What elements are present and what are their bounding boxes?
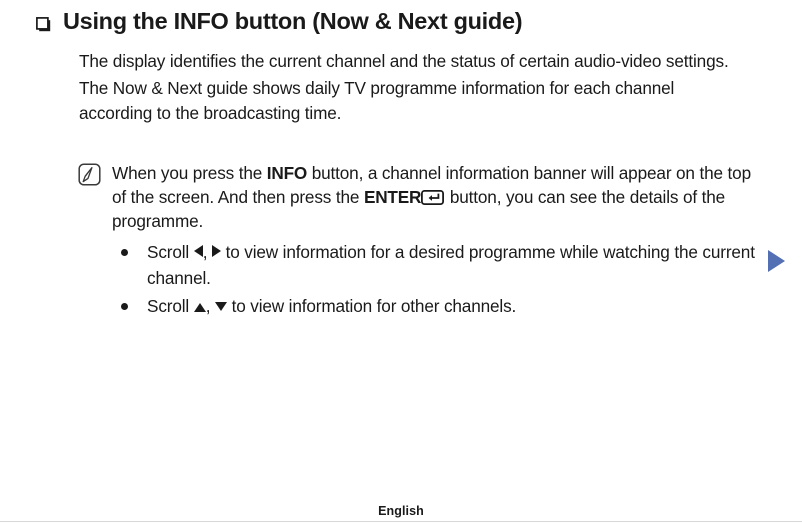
- bullet-2-text-before: Scroll: [147, 296, 194, 316]
- bullet-1-separator: ,: [203, 242, 212, 262]
- note-text-1: When you press the: [112, 163, 267, 183]
- list-item: Scroll , to view information for a desir…: [118, 240, 758, 291]
- paragraph-2: The Now & Next guide shows daily TV prog…: [79, 76, 751, 127]
- triangle-right-icon: [212, 245, 221, 257]
- note-emphasis-info: INFO: [267, 163, 307, 183]
- scroll-instructions-list: Scroll , to view information for a desir…: [118, 240, 758, 323]
- intro-paragraphs: The display identifies the current chann…: [79, 49, 751, 127]
- triangle-up-icon: [194, 303, 206, 312]
- list-item-text: Scroll , to view information for other c…: [147, 294, 758, 320]
- bullet-dot-icon: [118, 294, 147, 320]
- triangle-down-icon: [215, 302, 227, 311]
- footer-divider: [0, 521, 802, 522]
- manual-page: Using the INFO button (Now & Next guide)…: [0, 0, 802, 525]
- enter-key-icon: [421, 187, 444, 202]
- note-block: When you press the INFO button, a channe…: [78, 161, 758, 233]
- list-item-text: Scroll , to view information for a desir…: [147, 240, 758, 291]
- note-body: When you press the INFO button, a channe…: [112, 161, 758, 233]
- page-title: Using the INFO button (Now & Next guide): [63, 8, 522, 35]
- bullet-2-separator: ,: [206, 296, 215, 316]
- bullet-dot-icon: [118, 240, 147, 266]
- note-emphasis-enter: ENTER: [364, 187, 421, 207]
- bullet-1-text-before: Scroll: [147, 242, 194, 262]
- triangle-left-icon: [194, 245, 203, 257]
- page-footer: English: [0, 502, 802, 520]
- triangle-right-nav-icon[interactable]: [768, 250, 785, 272]
- bullet-1-text-after: to view information for a desired progra…: [147, 242, 755, 288]
- note-pen-icon: [78, 163, 101, 186]
- section-heading: Using the INFO button (Now & Next guide): [36, 8, 522, 35]
- list-item: Scroll , to view information for other c…: [118, 294, 758, 320]
- note-paragraph: When you press the INFO button, a channe…: [112, 161, 758, 233]
- bullet-2-text-after: to view information for other channels.: [227, 296, 516, 316]
- paragraph-1: The display identifies the current chann…: [79, 49, 751, 75]
- footer-language-label: English: [378, 504, 424, 518]
- ballot-box-icon: [36, 17, 51, 32]
